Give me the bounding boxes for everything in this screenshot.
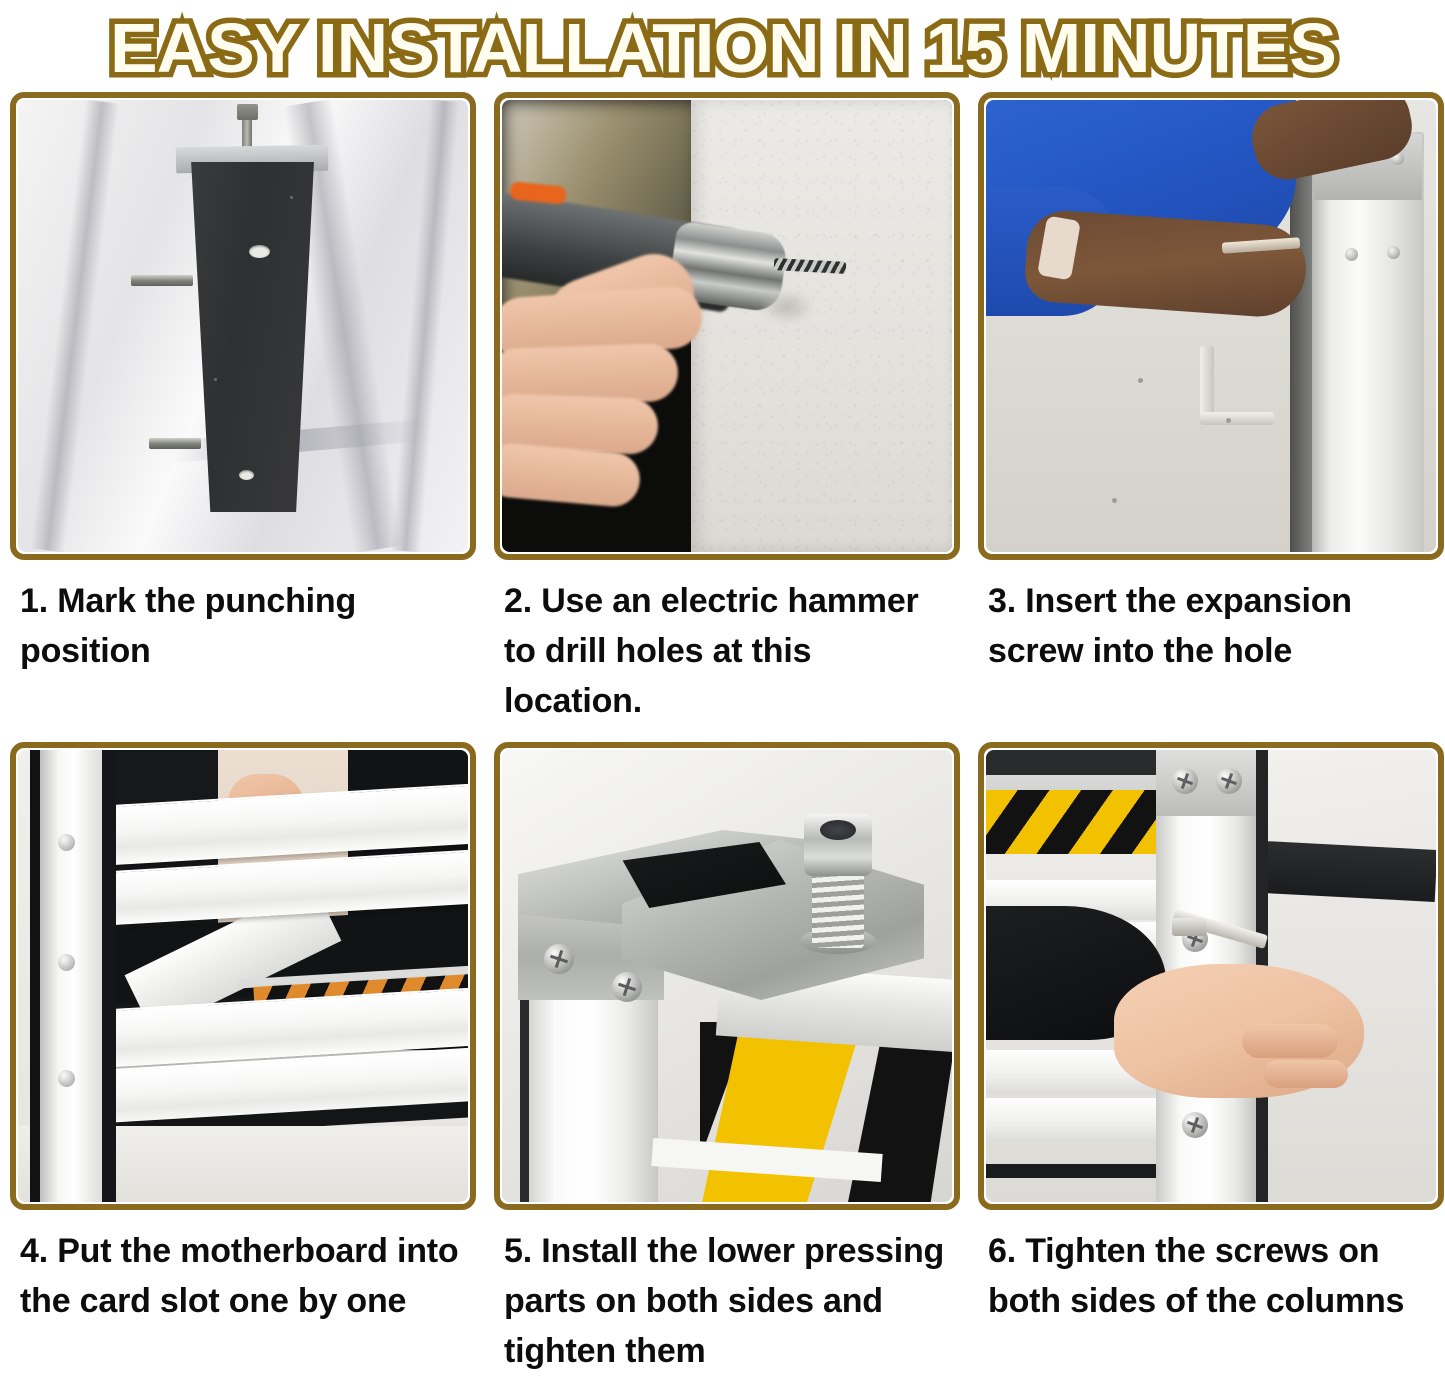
- step-photo-frame-6: [978, 742, 1444, 1210]
- step-card-6: 6. Tighten the screws on both sides of t…: [978, 742, 1444, 1386]
- step-photo-4: [18, 750, 468, 1202]
- column-post: [40, 750, 102, 1202]
- step-photo-frame-3: [978, 92, 1444, 560]
- step-card-3: 3. Insert the expansion screw into the h…: [978, 92, 1444, 726]
- step-photo-frame-1: [10, 92, 476, 560]
- page-title: EASY INSTALLATION IN 15 MINUTES: [110, 11, 1336, 85]
- step-caption-6: 6. Tighten the screws on both sides of t…: [978, 1210, 1444, 1386]
- step-photo-2: [502, 100, 952, 552]
- page-title-bar: EASY INSTALLATION IN 15 MINUTES: [0, 0, 1445, 92]
- step-card-1: 1. Mark the punching position: [10, 92, 476, 726]
- step-card-5: 5. Install the lower pressing parts on b…: [494, 742, 960, 1386]
- stud-upper: [131, 275, 193, 286]
- step-caption-3: 3. Insert the expansion screw into the h…: [978, 560, 1444, 694]
- step-photo-6: [986, 750, 1436, 1202]
- stud-lower: [149, 438, 201, 449]
- allen-key-icon: [1200, 346, 1214, 420]
- installer-hand: [1114, 964, 1364, 1098]
- step-caption-2: 2. Use an electric hammer to drill holes…: [494, 560, 960, 726]
- barrier-board: [986, 1098, 1162, 1142]
- hazard-stripe-band: [986, 790, 1162, 854]
- step-caption-5: 5. Install the lower pressing parts on b…: [494, 1210, 960, 1386]
- step-photo-3: [986, 100, 1436, 552]
- step-photo-5: [502, 750, 952, 1202]
- step-photo-frame-5: [494, 742, 960, 1210]
- step-photo-frame-4: [10, 742, 476, 1210]
- installation-steps-grid: 1. Mark the punching position: [0, 92, 1445, 1386]
- step-card-2: 2. Use an electric hammer to drill holes…: [494, 92, 960, 726]
- installer-hand: [820, 1026, 950, 1202]
- step-photo-1: [18, 100, 468, 552]
- step-card-4: 4. Put the motherboard into the card slo…: [10, 742, 476, 1386]
- steps-row-top: 1. Mark the punching position: [6, 92, 1439, 726]
- step-caption-1: 1. Mark the punching position: [10, 560, 476, 694]
- steps-row-bottom: 4. Put the motherboard into the card slo…: [6, 742, 1439, 1386]
- hex-bolt-icon: [812, 868, 864, 948]
- step-caption-4: 4. Put the motherboard into the card slo…: [10, 1210, 476, 1386]
- wall-surface: [691, 100, 952, 552]
- step-photo-frame-2: [494, 92, 960, 560]
- column-post: [526, 974, 658, 1202]
